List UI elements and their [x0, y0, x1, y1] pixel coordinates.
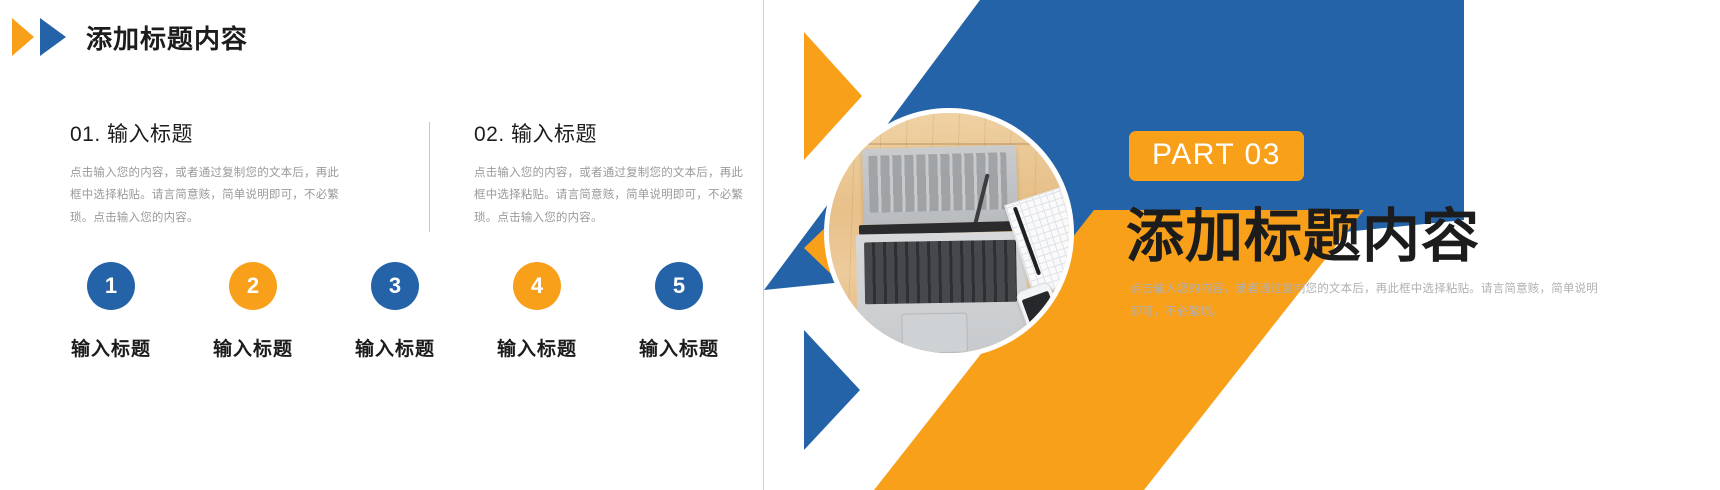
step-item-1[interactable]: 1 输入标题: [40, 262, 182, 361]
step-circle-4: 4: [513, 262, 561, 310]
laptop-base: [856, 232, 1028, 358]
step-row: 1 输入标题 2 输入标题 3 输入标题 4 输入标题 5 输入标题: [40, 262, 780, 361]
section-body: 点击输入您的内容，或者通过复制您的文本后，再此框中选择粘贴。请言简意赅，简单说明…: [1130, 278, 1600, 324]
laptop-screen: [862, 145, 1018, 225]
step-item-5[interactable]: 5 输入标题: [608, 262, 750, 361]
slide-header: 添加标题内容: [12, 18, 248, 56]
right-text-panel: PART 03 添加标题内容 点击输入您的内容，或者通过复制您的文本后，再此框中…: [1129, 0, 1689, 490]
column-01-heading: 01. 输入标题: [70, 118, 370, 148]
column-02-body: 点击输入您的内容，或者通过复制您的文本后，再此框中选择粘贴。请言简意赅，简单说明…: [474, 162, 746, 229]
page-title: 添加标题内容: [86, 19, 248, 56]
step-label-5: 输入标题: [639, 334, 719, 361]
step-label-2: 输入标题: [213, 334, 293, 361]
wood-seam-1: [829, 143, 1069, 145]
step-circle-3: 3: [371, 262, 419, 310]
laptop-trackpad: [901, 313, 968, 354]
triangle-right-orange-icon: [12, 18, 34, 56]
left-content-panel: 添加标题内容 01. 输入标题 点击输入您的内容，或者通过复制您的文本后，再此框…: [0, 0, 845, 490]
laptop-desk-photo: [824, 108, 1074, 358]
photo-content: [829, 113, 1069, 353]
step-label-4: 输入标题: [497, 334, 577, 361]
column-02: 02. 输入标题 点击输入您的内容，或者通过复制您的文本后，再此框中选择粘贴。请…: [430, 118, 730, 229]
column-02-heading: 02. 输入标题: [474, 118, 730, 148]
column-01: 01. 输入标题 点击输入您的内容，或者通过复制您的文本后，再此框中选择粘贴。请…: [70, 118, 370, 229]
column-01-body: 点击输入您的内容，或者通过复制您的文本后，再此框中选择粘贴。请言简意赅，简单说明…: [70, 162, 342, 229]
two-column-text-block: 01. 输入标题 点击输入您的内容，或者通过复制您的文本后，再此框中选择粘贴。请…: [70, 118, 730, 229]
step-item-2[interactable]: 2 输入标题: [182, 262, 324, 361]
status-badge: PART 03: [1129, 131, 1304, 181]
laptop-keyboard: [864, 240, 1017, 305]
step-circle-5: 5: [655, 262, 703, 310]
step-item-3[interactable]: 3 输入标题: [324, 262, 466, 361]
section-title: 添加标题内容: [1126, 189, 1480, 273]
presentation-slide: 添加标题内容 01. 输入标题 点击输入您的内容，或者通过复制您的文本后，再此框…: [0, 0, 1720, 490]
column-divider: [429, 122, 430, 232]
step-item-4[interactable]: 4 输入标题: [466, 262, 608, 361]
step-label-1: 输入标题: [71, 334, 151, 361]
step-circle-2: 2: [229, 262, 277, 310]
step-circle-1: 1: [87, 262, 135, 310]
step-label-3: 输入标题: [355, 334, 435, 361]
triangle-right-blue-icon: [40, 18, 66, 56]
